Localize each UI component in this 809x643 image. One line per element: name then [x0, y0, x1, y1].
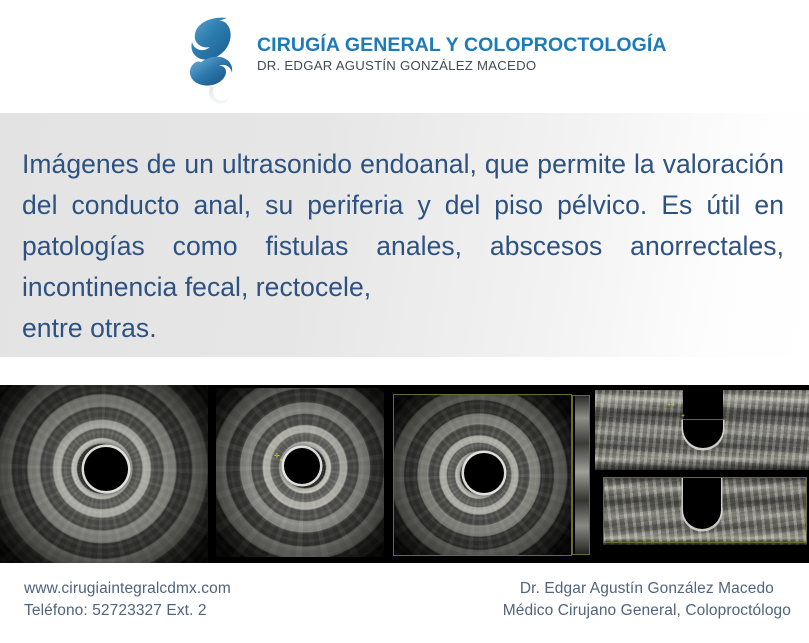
description-paragraph-tail: entre otras. [22, 308, 784, 349]
sagittal-view-lower [603, 477, 807, 545]
header-brand-group: CIRUGÍA GENERAL Y COLOPROCTOLOGÍA DR. ED… [183, 14, 667, 106]
measurement-marker-icon: ✛ [274, 453, 279, 460]
colon-swirl-logo [183, 14, 249, 106]
endoanal-ultrasound-axial-2: ✛ • [208, 385, 388, 563]
description-paragraph: Imágenes de un ultrasonido endoanal, que… [22, 149, 784, 302]
lateral-reconstruction-strip [575, 396, 589, 554]
endoanal-ultrasound-sagittal-pair: + + + [593, 385, 809, 563]
footer-website[interactable]: www.cirugiaintegralcdmx.com [24, 578, 231, 600]
footer-doctor-name: Dr. Edgar Agustín González Macedo [503, 578, 791, 600]
ultrasound-image-strip: ✛ • + + + [0, 385, 809, 563]
endoanal-ultrasound-axial-3 [388, 385, 593, 563]
sagittal-view-upper: + + + [595, 390, 809, 470]
measurement-marker-dot-icon: • [280, 457, 282, 464]
endoanal-ultrasound-axial-1 [0, 385, 208, 563]
sagittal-marker-icon: + + [667, 402, 674, 409]
footer-contact-block: www.cirugiaintegralcdmx.com Teléfono: 52… [24, 578, 231, 622]
footer-doctor-title: Médico Cirujano General, Coloproctólogo [503, 600, 791, 622]
page-subtitle: DR. EDGAR AGUSTÍN GONZÁLEZ MACEDO [257, 58, 667, 75]
page-title: CIRUGÍA GENERAL Y COLOPROCTOLOGÍA [257, 35, 667, 56]
header-text-block: CIRUGÍA GENERAL Y COLOPROCTOLOGÍA DR. ED… [257, 14, 667, 75]
description-panel: Imágenes de un ultrasonido endoanal, que… [0, 113, 809, 357]
footer-phone: Teléfono: 52723327 Ext. 2 [24, 600, 231, 622]
sagittal-marker-icon-2: + [681, 413, 684, 420]
footer-doctor-block: Dr. Edgar Agustín González Macedo Médico… [503, 578, 791, 622]
slide-header: CIRUGÍA GENERAL Y COLOPROCTOLOGÍA DR. ED… [0, 0, 809, 112]
slide-footer: www.cirugiaintegralcdmx.com Teléfono: 52… [0, 563, 809, 643]
description-text: Imágenes de un ultrasonido endoanal, que… [22, 144, 784, 349]
